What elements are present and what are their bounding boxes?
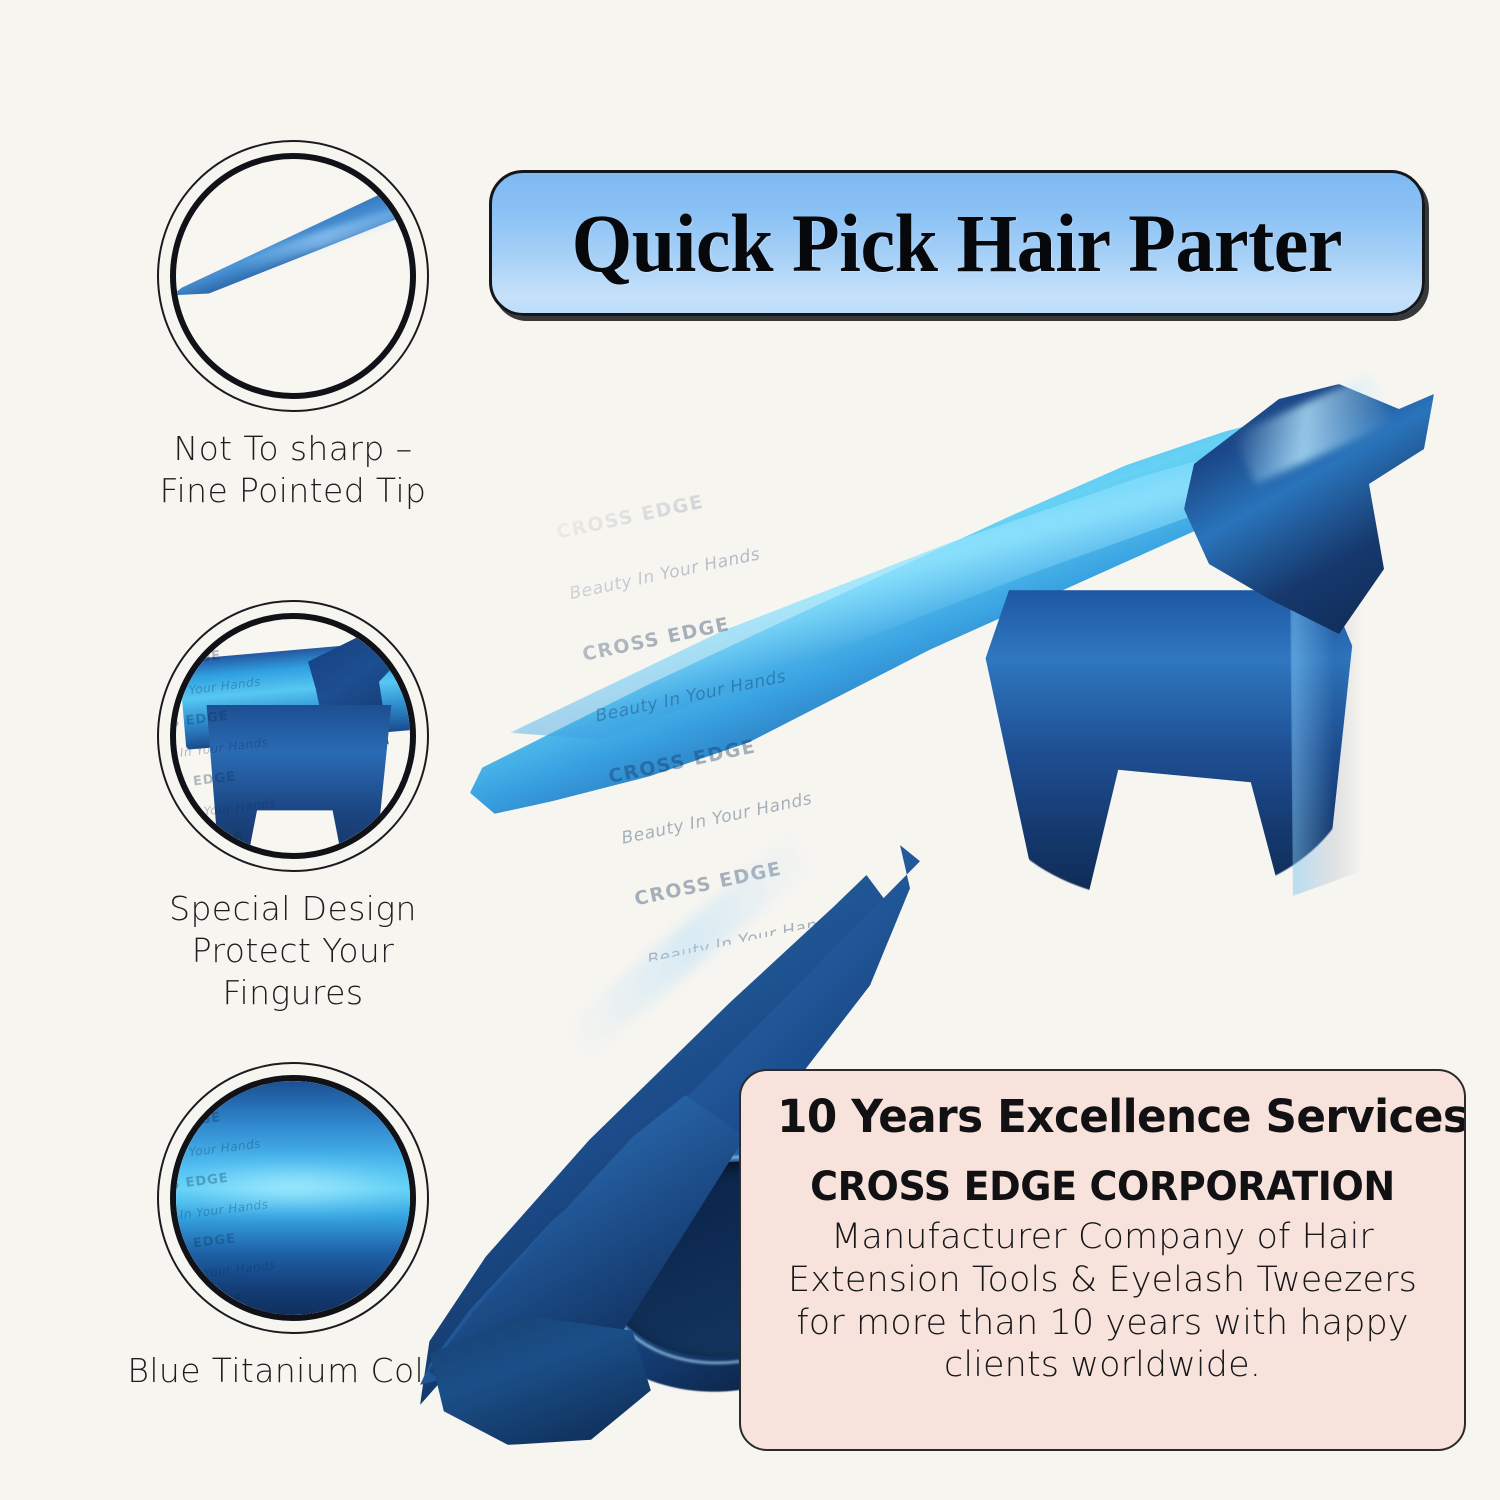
product-infographic: Quick Pick Hair Parter Not To sharp – Fi… — [0, 0, 1500, 1500]
surface-specular-glow — [176, 1156, 410, 1217]
feature-caption-line1: Blue Titanium Color — [127, 1350, 458, 1392]
feature-caption-line2: Protect Your Fingures — [118, 930, 468, 1014]
company-info-card: 10 Years Excellence Services CROSS EDGE … — [739, 1069, 1466, 1451]
company-name: CROSS EDGE CORPORATION — [784, 1166, 1421, 1208]
feature-caption-line1: Not To sharp – — [160, 428, 427, 470]
company-description-line3: for more than 10 years with happy — [767, 1302, 1438, 1345]
blue-titanium-surface-closeup-icon: CROSS EDGE Beauty In Your Hands CROSS ED… — [176, 1081, 410, 1315]
circle-frame-inner: CROSS EDGE Beauty In Your Hands CROSS ED… — [170, 1075, 416, 1321]
title-banner: Quick Pick Hair Parter — [489, 170, 1425, 316]
company-description-line1: Manufacturer Company of Hair — [767, 1216, 1438, 1259]
company-description: Manufacturer Company of Hair Extension T… — [767, 1216, 1438, 1387]
feature-special-design: CROSS EDGE Beauty In Your Hands CROSS ED… — [118, 600, 468, 1015]
feature-pointed-tip: Not To sharp – Fine Pointed Tip — [118, 140, 468, 512]
feature-caption-line1: Special Design — [118, 888, 468, 930]
company-description-line4: clients worldwide. — [767, 1344, 1438, 1387]
feature-caption: Special Design Protect Your Fingures — [118, 888, 468, 1015]
finger-guard-closeup-icon: CROSS EDGE Beauty In Your Hands CROSS ED… — [176, 619, 410, 853]
circle-frame-outer — [157, 140, 429, 412]
feature-caption: Not To sharp – Fine Pointed Tip — [160, 428, 427, 512]
circle-frame-outer: CROSS EDGE Beauty In Your Hands CROSS ED… — [157, 600, 429, 872]
engraving-brand-text: CROSS EDGE — [176, 619, 410, 623]
feature-caption: Blue Titanium Color — [127, 1350, 458, 1392]
page-title: Quick Pick Hair Parter — [572, 202, 1342, 285]
info-headline: 10 Years Excellence Services — [777, 1093, 1428, 1140]
feature-blue-titanium-color: CROSS EDGE Beauty In Your Hands CROSS ED… — [118, 1062, 468, 1392]
finger-guard-ring-shape — [194, 705, 404, 853]
feature-caption-line2: Fine Pointed Tip — [160, 470, 427, 512]
circle-frame-outer: CROSS EDGE Beauty In Your Hands CROSS ED… — [157, 1062, 429, 1334]
pointed-tip-closeup-icon — [176, 159, 410, 393]
circle-frame-inner: CROSS EDGE Beauty In Your Hands CROSS ED… — [170, 613, 416, 859]
product-ring-edge-highlight — [1290, 586, 1364, 896]
circle-frame-inner — [170, 153, 416, 399]
product-image-main: CROSS EDGE Beauty In Your Hands CROSS ED… — [470, 380, 1440, 910]
company-description-line2: Extension Tools & Eyelash Tweezers — [767, 1259, 1438, 1302]
